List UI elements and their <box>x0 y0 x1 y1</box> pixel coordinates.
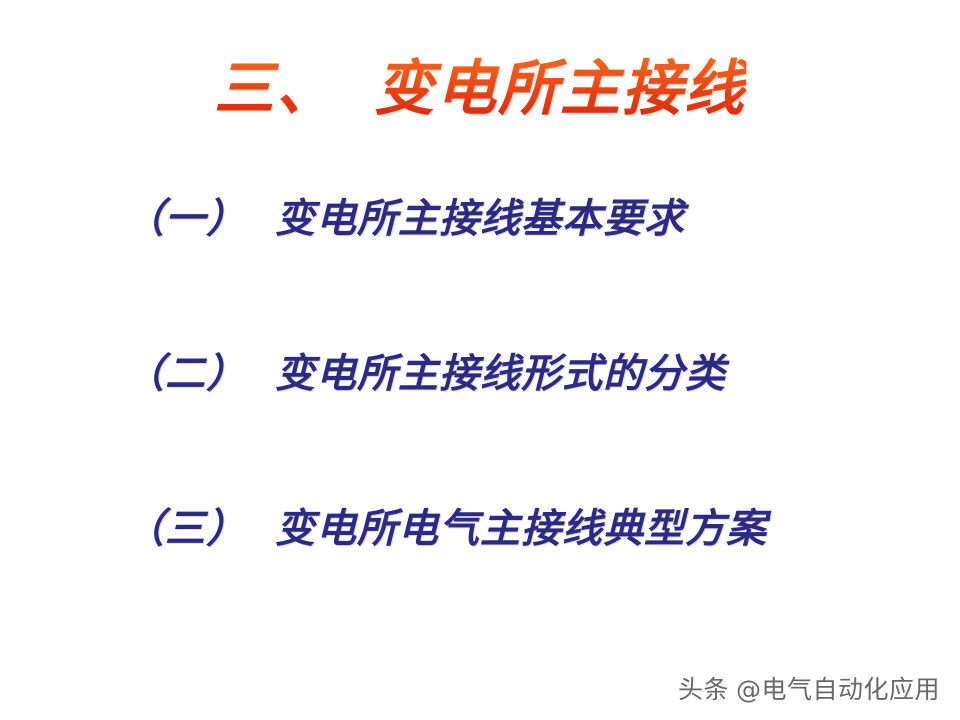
agenda-item-1-marker: （一） <box>124 196 247 242</box>
slide-title-text: 三、变电所主接线 <box>214 56 746 123</box>
slide-title-body: 变电所主接线 <box>374 54 746 124</box>
agenda-item-3-marker: （三） <box>124 506 247 552</box>
agenda-item-3[interactable]: （三）变电所电气主接线典型方案 <box>124 506 767 552</box>
agenda-item-2-marker: （二） <box>124 351 247 397</box>
agenda-item-1[interactable]: （一）变电所主接线基本要求 <box>124 196 685 242</box>
watermark: 头条@电气自动化应用 <box>678 670 940 706</box>
agenda-item-1-label: 变电所主接线基本要求 <box>275 196 685 242</box>
agenda-item-2[interactable]: （二）变电所主接线形式的分类 <box>124 351 726 397</box>
watermark-brand: 头条 <box>678 675 729 704</box>
slide-title-number: 三、 <box>214 54 338 124</box>
slide-title: 三、变电所主接线 <box>0 56 960 123</box>
agenda-item-3-label: 变电所电气主接线典型方案 <box>275 506 767 552</box>
presentation-slide: 三、变电所主接线 （一）变电所主接线基本要求 （二）变电所主接线形式的分类 （三… <box>0 0 960 720</box>
watermark-account: @电气自动化应用 <box>736 675 940 704</box>
agenda-item-2-label: 变电所主接线形式的分类 <box>275 351 726 397</box>
